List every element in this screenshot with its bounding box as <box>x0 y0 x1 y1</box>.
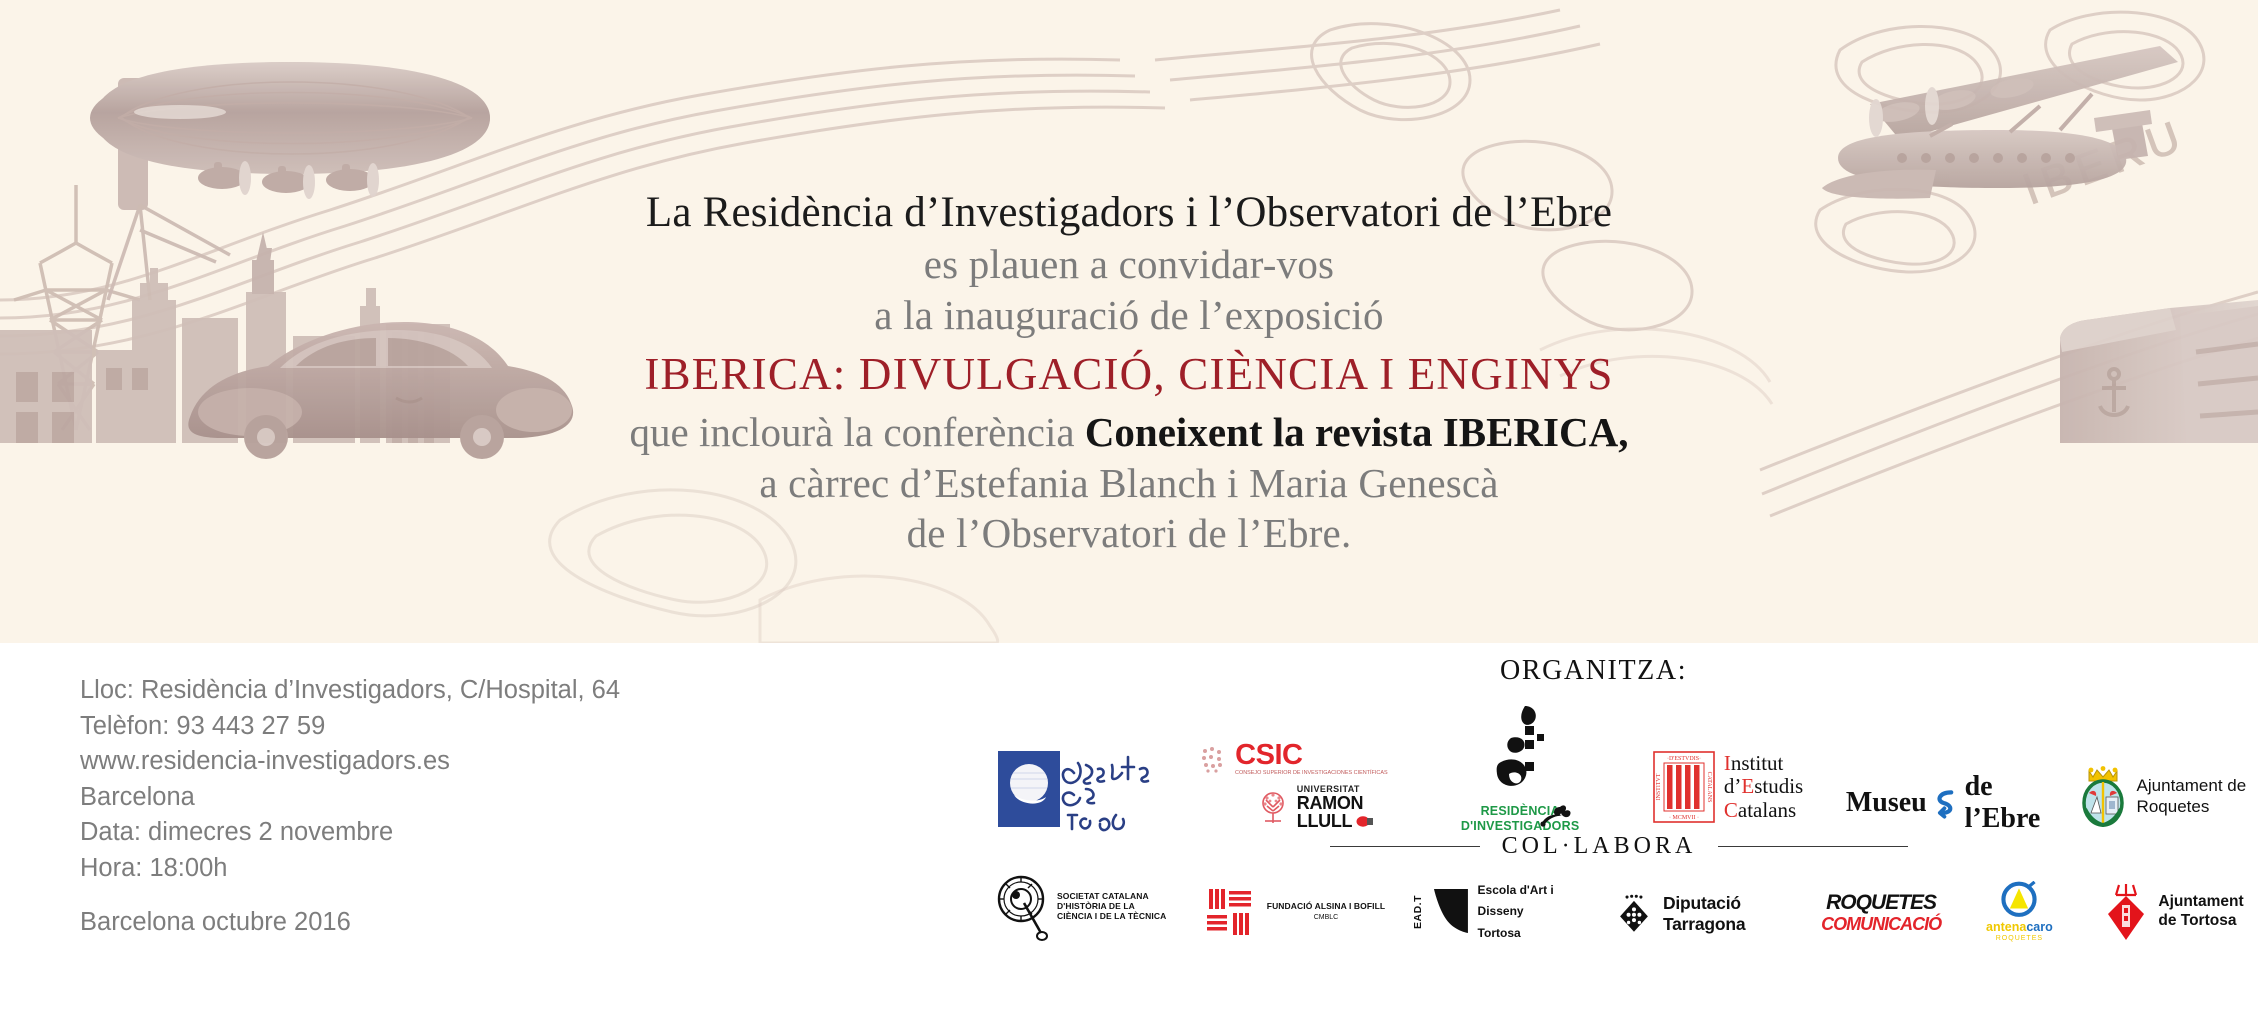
organitza-logo-row: CSIC CONSEJO SUPERIOR DE INVESTIGACIONES… <box>980 703 2258 833</box>
logo-observatori-de-lebre[interactable] <box>990 743 1190 833</box>
logo-ajuntament-de-roquetes[interactable]: Ajuntament de Roquetes <box>2065 761 2258 833</box>
illustration-band: IBERU <box>0 0 2258 643</box>
csic-mark-icon <box>1199 745 1229 773</box>
iec-line1-rest: nstitut <box>1731 751 1784 775</box>
ramon-llull-tree-icon <box>1256 791 1290 825</box>
alsina-line1: FUNDACIÓ ALSINA I BOFILL <box>1267 902 1385 912</box>
invite-line-1: La Residència d’Investigadors i l’Observ… <box>0 186 2258 239</box>
iec-crest-left: INSTITVT <box>1656 773 1662 800</box>
eadt-shape-icon <box>1432 887 1470 937</box>
collabora-rule-right <box>1718 846 1908 847</box>
sponsors-area: ORGANITZA: <box>980 643 2258 1027</box>
roquetes-label-line1: Ajuntament de <box>2137 776 2247 797</box>
footer-section: Lloc: Residència d’Investigadors, C/Hosp… <box>0 643 2258 1027</box>
roquetes-crest-icon <box>2077 765 2129 829</box>
roquetes-comunicacio-line1: ROQUETES <box>1826 892 1936 913</box>
logo-csic-ramon-llull[interactable]: CSIC CONSEJO SUPERIOR DE INVESTIGACIONES… <box>1222 738 1408 833</box>
roquetes-comunicacio-line2: COMUNICACIÓ <box>1821 915 1941 933</box>
tortosa-label-line1: Ajuntament <box>2158 893 2243 912</box>
collabora-heading-row: COL·LABORA <box>980 833 2258 860</box>
observatori-de-lebre-mark <box>990 743 1190 833</box>
iec-crest-right: CATALANS <box>1706 772 1712 803</box>
invite-speakers: a càrrec d’Estefania Blanch i Maria Gene… <box>0 458 2258 509</box>
contact-city: Barcelona <box>80 780 620 816</box>
ramon-llull-line2: RAMON <box>1297 794 1374 812</box>
logo-escola-dart-i-disseny-tortosa[interactable]: EAD.T Escola d'Art i Disseny Tortosa <box>1412 881 1603 943</box>
iec-line3-rest: atalans <box>1738 798 1796 822</box>
collabora-heading: COL·LABORA <box>1502 833 1697 860</box>
contact-date: Data: dimecres 2 novembre <box>80 815 620 851</box>
antena-caro-sub: ROQUETES <box>1996 935 2043 943</box>
logo-roquetes-comunicacio[interactable]: ROQUETES COMUNICACIÓ <box>1814 881 1947 943</box>
museu-text-left: Museu <box>1846 787 1927 819</box>
antena-caro-mark-icon <box>1996 881 2042 919</box>
invitation-text-block: La Residència d’Investigadors i l’Observ… <box>0 186 2258 559</box>
collabora-logo-row: SOCIETAT CATALANA D'HISTÒRIA DE LA CIÈNC… <box>980 871 2258 943</box>
museu-text-right: de l’Ebre <box>1965 771 2049 835</box>
contact-place: Lloc: Residència d’Investigadors, C/Hosp… <box>80 673 620 709</box>
iec-crest-bottom: · MCMVII · <box>1669 815 1699 821</box>
csic-subtitle: CONSEJO SUPERIOR DE INVESTIGACIONES CIEN… <box>1235 770 1388 776</box>
schct-line3: CIÈNCIA I DE LA TÈCNICA <box>1057 912 1166 922</box>
contact-spacer <box>80 886 620 905</box>
tortosa-crest-icon <box>2103 883 2149 941</box>
contact-time: Hora: 18:00h <box>80 851 620 887</box>
conference-name: Coneixent la revista IBERICA, <box>1085 409 1629 455</box>
csic-wordmark: CSIC <box>1235 741 1431 770</box>
alsina-line2: CMBLC <box>1267 914 1385 922</box>
url-badge-icon <box>1356 816 1374 827</box>
eadt-line2: Tortosa <box>1478 923 1603 945</box>
invite-conference-line: que inclourà la conferència Coneixent la… <box>0 407 2258 458</box>
collabora-rule-left <box>1330 846 1480 847</box>
museu-river-icon <box>1933 784 1959 822</box>
contact-website[interactable]: www.residencia-investigadors.es <box>80 744 620 780</box>
contact-signature: Barcelona octubre 2016 <box>80 905 620 941</box>
logo-institut-destudis-catalans[interactable]: ·D'ESTVDIS· · MCMVII · INSTITVT CATALANS… <box>1636 741 1820 833</box>
logo-ajuntament-de-tortosa[interactable]: Ajuntament de Tortosa <box>2089 881 2258 943</box>
exhibition-title: IBERICA: DIVULGACIÓ, CIÈNCIA I ENGINYS <box>0 347 2258 403</box>
invitation-poster: IBERU <box>0 0 2258 1027</box>
eadt-mark: EAD.T <box>1412 895 1424 929</box>
iec-crest-icon: ·D'ESTVDIS· · MCMVII · INSTITVT CATALANS <box>1653 751 1715 823</box>
diputacio-tarragona-mark-icon <box>1617 887 1654 941</box>
eadt-line1: Escola d'Art i Disseny <box>1478 880 1603 923</box>
diputacio-tarragona-label: Diputació Tarragona <box>1663 893 1790 935</box>
contact-phone: Telèfon: 93 443 27 59 <box>80 709 620 745</box>
logo-museu-de-lebre[interactable]: Museu de l’Ebre <box>1846 773 2049 833</box>
decorative-flourish-icon <box>1540 803 1574 831</box>
logo-societat-catalana-historia-ciencia[interactable]: SOCIETAT CATALANA D'HISTÒRIA DE LA CIÈNC… <box>990 871 1172 943</box>
organitza-heading: ORGANITZA: <box>1500 655 1687 687</box>
contact-info-block: Lloc: Residència d’Investigadors, C/Hosp… <box>80 673 620 941</box>
invite-line-2: es plauen a convidar-vos <box>0 239 2258 290</box>
invite-line-3: a la inauguració de l’exposició <box>0 290 2258 341</box>
tortosa-label-line2: de Tortosa <box>2158 912 2243 931</box>
conference-prefix: que inclourà la conferència <box>630 409 1085 455</box>
alsina-bofill-mark-icon <box>1203 885 1257 939</box>
iec-crest-top: ·D'ESTVDIS· <box>1667 756 1701 762</box>
roquetes-label-line2: Roquetes <box>2137 797 2247 818</box>
logo-diputacio-tarragona[interactable]: Diputació Tarragona <box>1617 885 1790 943</box>
logo-antena-caro[interactable]: antenacaro ROQUETES <box>1964 881 2075 943</box>
ramon-llull-line3: LLULL <box>1297 812 1352 830</box>
schct-seal-icon <box>996 873 1050 941</box>
invite-affiliation: de l’Observatori de l’Ebre. <box>0 508 2258 559</box>
iec-line2-rest: studis <box>1754 774 1803 798</box>
residencia-mark-icon <box>1481 704 1559 800</box>
logo-fundacio-alsina-i-bofill[interactable]: FUNDACIÓ ALSINA I BOFILL CMBLC <box>1198 881 1389 943</box>
logo-residencia-dinvestigadors[interactable]: RESIDÈNCIA D'INVESTIGADORS <box>1438 703 1602 833</box>
